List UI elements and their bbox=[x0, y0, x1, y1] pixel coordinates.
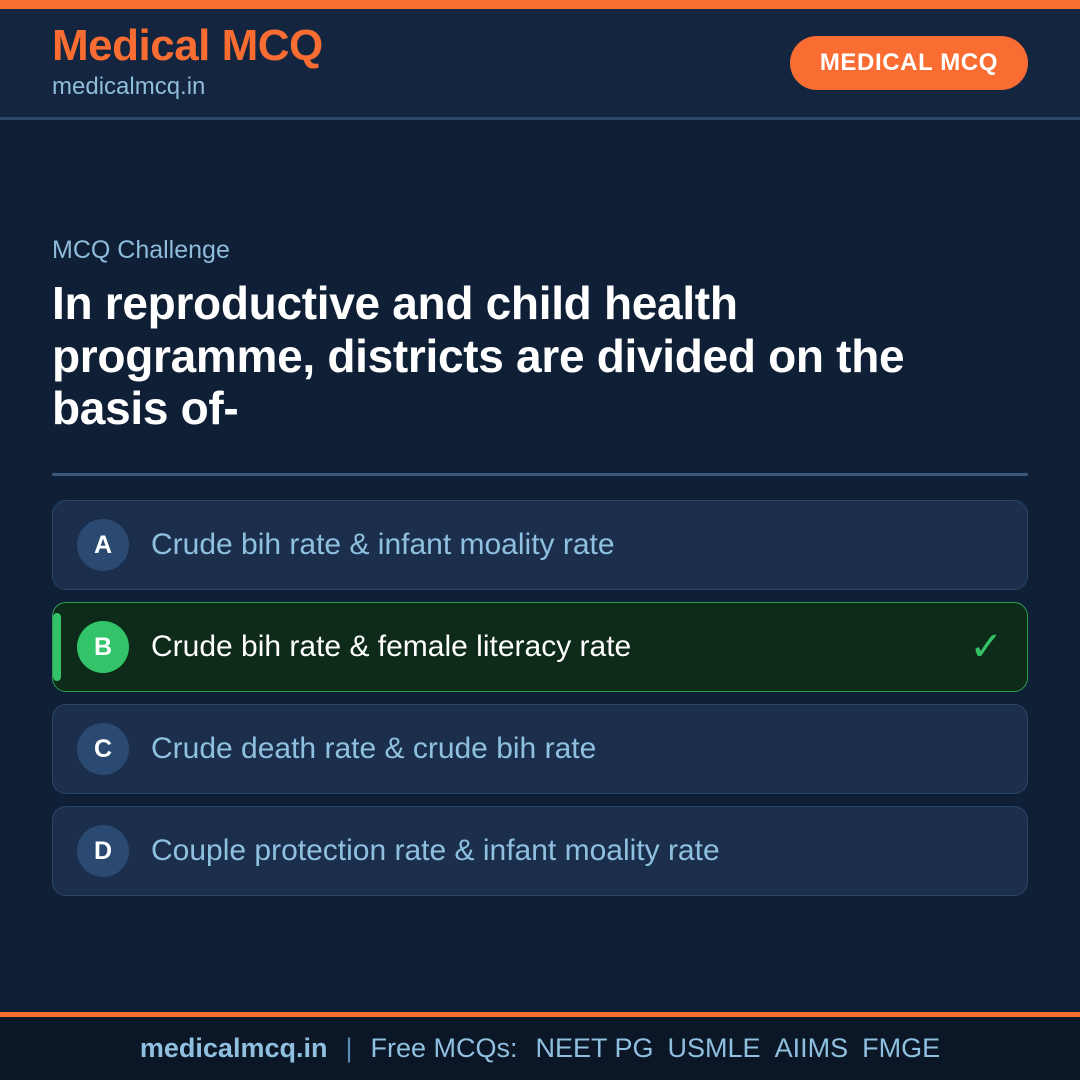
page-header: Medical MCQ medicalmcq.in MEDICAL MCQ bbox=[0, 9, 1080, 120]
option-letter-badge: B bbox=[77, 621, 129, 673]
page-footer: medicalmcq.in | Free MCQs: NEET PGUSMLEA… bbox=[0, 1017, 1080, 1080]
option-letter-badge: D bbox=[77, 825, 129, 877]
mcq-card: Medical MCQ medicalmcq.in MEDICAL MCQ MC… bbox=[0, 0, 1080, 1080]
footer-tag[interactable]: USMLE bbox=[668, 1033, 761, 1064]
footer-tags: NEET PGUSMLEAIIMSFMGE bbox=[536, 1033, 941, 1064]
brand: Medical MCQ medicalmcq.in bbox=[52, 24, 323, 102]
option-letter-badge: A bbox=[77, 519, 129, 571]
option-text: Couple protection rate & infant moality … bbox=[151, 833, 720, 869]
footer-tag[interactable]: FMGE bbox=[862, 1033, 940, 1064]
footer-separator: | bbox=[345, 1033, 352, 1064]
option-text: Crude bih rate & infant moality rate bbox=[151, 527, 615, 563]
check-icon: ✓ bbox=[953, 627, 1003, 667]
footer-tag[interactable]: AIIMS bbox=[775, 1033, 849, 1064]
option-text: Crude bih rate & female literacy rate bbox=[151, 629, 631, 665]
top-accent-bar bbox=[0, 0, 1080, 9]
option-a[interactable]: ACrude bih rate & infant moality rate bbox=[52, 500, 1028, 590]
option-letter-badge: C bbox=[77, 723, 129, 775]
brand-subtitle: medicalmcq.in bbox=[52, 72, 323, 102]
option-text: Crude death rate & crude bih rate bbox=[151, 731, 596, 767]
option-d[interactable]: DCouple protection rate & infant moality… bbox=[52, 806, 1028, 896]
brand-title: Medical MCQ bbox=[52, 24, 323, 69]
question-text: In reproductive and child health program… bbox=[52, 277, 1012, 436]
footer-site-link[interactable]: medicalmcq.in bbox=[140, 1033, 328, 1064]
option-b[interactable]: BCrude bih rate & female literacy rate✓ bbox=[52, 602, 1028, 692]
main-content: MCQ Challenge In reproductive and child … bbox=[0, 120, 1080, 1012]
kicker-label: MCQ Challenge bbox=[52, 236, 1028, 265]
footer-inner: medicalmcq.in | Free MCQs: NEET PGUSMLEA… bbox=[140, 1033, 940, 1064]
options-list: ACrude bih rate & infant moality rateBCr… bbox=[52, 500, 1028, 896]
correct-accent-bar bbox=[53, 613, 61, 681]
section-divider bbox=[52, 473, 1028, 476]
header-badge[interactable]: MEDICAL MCQ bbox=[790, 36, 1028, 90]
option-c[interactable]: CCrude death rate & crude bih rate bbox=[52, 704, 1028, 794]
footer-free-label: Free MCQs: bbox=[370, 1033, 517, 1064]
footer-tag[interactable]: NEET PG bbox=[536, 1033, 654, 1064]
